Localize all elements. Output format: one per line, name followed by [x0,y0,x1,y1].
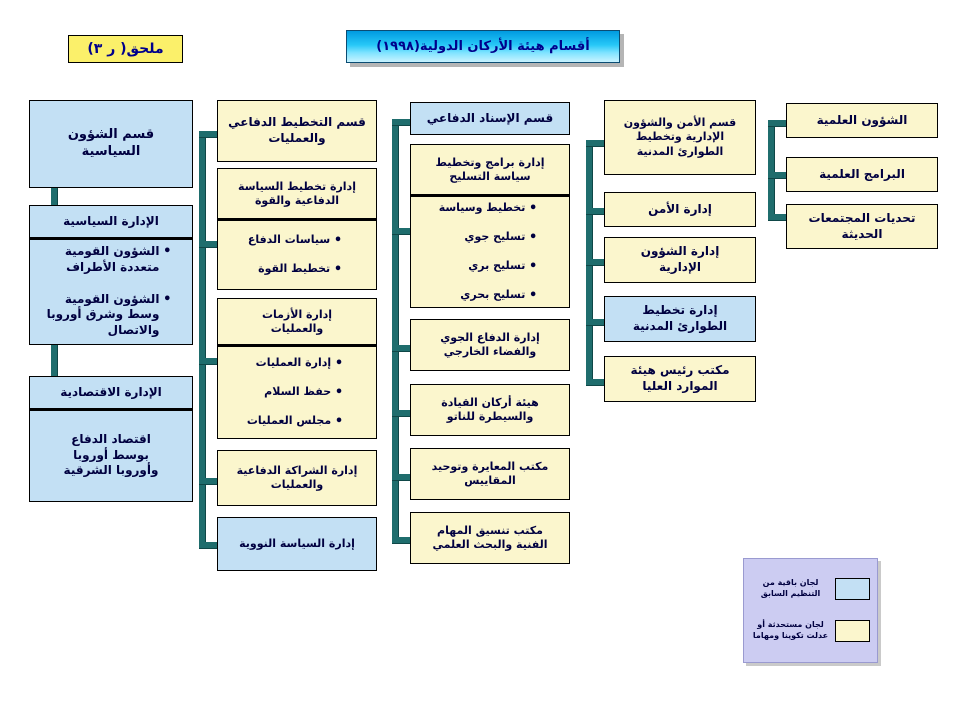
node-header: الإدارة الاقتصادية [30,377,192,411]
legend-label-new: لجان مستحدثة أو عدلت تكوينا ومهاما [752,620,829,642]
node-title: الشؤون العلمية [787,104,937,137]
node-administration-directorate[interactable]: إدارة الشؤون الإدارية [604,237,756,283]
list-item: حفظ السلام [247,385,331,400]
node-modern-society-challenges[interactable]: تحديات المجتمعات الحديثة [786,204,938,249]
node-title: مكتب رئيس هيئة الموارد العليا [605,357,755,401]
list-item: تسليح بري [439,259,526,274]
list-item: سياسات الدفاع [248,233,330,248]
node-title: مكتب تنسيق المهام الفنية والبحث العلمي [411,513,569,563]
node-nuclear-policy[interactable]: إدارة السياسة النووية [217,517,377,571]
connector-vertical-col2 [199,131,205,548]
legend-item-existing: لجان باقية من التنظيم السابق [752,575,870,603]
node-armaments-programmes-planning[interactable]: إدارة برامج وتخطيط سياسة التسليح تخطيط و… [410,144,570,308]
node-header: إدارة تخطيط السياسة الدفاعية والقوة [218,169,376,221]
connector-vertical-col5 [768,120,774,220]
list-item: مجلس العمليات [247,414,331,429]
legend-swatch-blue [835,578,870,600]
annex-label-text: ملحق( ر ٣) [87,41,163,57]
node-defence-support-head[interactable]: قسم الإسناد الدفاعي [410,102,570,135]
node-body: تخطيط وسياسة تسليح جوي تسليح بري تسليح ب… [411,197,569,306]
org-chart-canvas: ملحق( ر ٣) أقسام هيئة الأركان الدولية(١٩… [0,0,959,719]
list-item: تسليح جوي [439,230,526,245]
node-body: اقتصاد الدفاع بوسط أوروبا وأوروبا الشرقي… [30,411,192,500]
legend-swatch-cream [835,620,870,642]
node-air-defence-outer-space[interactable]: إدارة الدفاع الجوي والفضاء الخارجي [410,319,570,371]
node-title: هيئة أركان القيادة والسيطرة للناتو [411,385,569,435]
node-political-affairs-head[interactable]: قسم الشؤون السياسية [29,100,193,188]
node-civil-emergency-planning[interactable]: إدارة تخطيط الطوارئ المدنية [604,296,756,342]
node-nato-c2-staff[interactable]: هيئة أركان القيادة والسيطرة للناتو [410,384,570,436]
chart-title-banner: أقسام هيئة الأركان الدولية(١٩٩٨) [346,30,620,63]
node-bullet-list: إدارة العمليات حفظ السلام مجلس العمليات [247,341,347,443]
node-title: تحديات المجتمعات الحديثة [787,205,937,248]
node-defence-planning-head[interactable]: قسم التخطيط الدفاعي والعمليات [217,100,377,162]
annex-label-box: ملحق( ر ٣) [68,35,183,63]
node-title: قسم الأمن والشؤون الإدارية وتخطيط الطوار… [605,101,755,174]
node-title: مكتب المعايرة وتوحيد المقاييس [411,449,569,499]
node-title: إدارة تخطيط الطوارئ المدنية [605,297,755,341]
node-title: إدارة الأمن [605,193,755,226]
node-technical-research-coordination-office[interactable]: مكتب تنسيق المهام الفنية والبحث العلمي [410,512,570,564]
node-title: البرامج العلمية [787,158,937,191]
node-bullet-list: الشؤون القومية متعددة الأطراف الشؤون الق… [47,228,176,355]
node-title: إدارة السياسة النووية [218,518,376,570]
list-item: الشؤون القومية متعددة الأطراف [47,244,160,276]
node-title: إدارة الدفاع الجوي والفضاء الخارجي [411,320,569,370]
node-title: قسم الشؤون السياسية [30,101,192,187]
list-item: إدارة العمليات [247,356,331,371]
node-header: إدارة الأزمات والعمليات [218,299,376,347]
node-crisis-management-operations[interactable]: إدارة الأزمات والعمليات إدارة العمليات ح… [217,298,377,439]
node-body: سياسات الدفاع تخطيط القوة [218,221,376,288]
legend-panel: لجان باقية من التنظيم السابق لجان مستحدث… [743,558,878,663]
node-scientific-programmes[interactable]: البرامج العلمية [786,157,938,192]
node-title: قسم التخطيط الدفاعي والعمليات [218,101,376,161]
list-item: تخطيط القوة [248,262,330,277]
node-bullet-list: تخطيط وسياسة تسليح جوي تسليح بري تسليح ب… [439,186,542,317]
legend-label-existing: لجان باقية من التنظيم السابق [752,578,829,600]
node-defence-policy-force-planning[interactable]: إدارة تخطيط السياسة الدفاعية والقوة سياس… [217,168,377,290]
node-title: إدارة الشراكة الدفاعية والعمليات [218,451,376,505]
node-body: إدارة العمليات حفظ السلام مجلس العمليات [218,347,376,437]
legend-item-new: لجان مستحدثة أو عدلت تكوينا ومهاما [752,617,870,645]
list-item: الشؤون القومية وسط وشرق أوروبا والاتصال [47,292,160,339]
node-political-directorate[interactable]: الإدارة السياسية الشؤون القومية متعددة ا… [29,205,193,345]
node-security-directorate[interactable]: إدارة الأمن [604,192,756,227]
node-standardisation-office[interactable]: مكتب المعايرة وتوحيد المقاييس [410,448,570,500]
node-bullet-list: سياسات الدفاع تخطيط القوة [248,218,346,291]
node-economics-directorate[interactable]: الإدارة الاقتصادية اقتصاد الدفاع بوسط أو… [29,376,193,502]
node-scientific-affairs-head[interactable]: الشؤون العلمية [786,103,938,138]
node-security-admin-head[interactable]: قسم الأمن والشؤون الإدارية وتخطيط الطوار… [604,100,756,175]
node-title: إدارة الشؤون الإدارية [605,238,755,282]
node-defence-partnership-operations[interactable]: إدارة الشراكة الدفاعية والعمليات [217,450,377,506]
node-senior-resource-board-office[interactable]: مكتب رئيس هيئة الموارد العليا [604,356,756,402]
list-item: تخطيط وسياسة [439,201,526,216]
page-title: أقسام هيئة الأركان الدولية(١٩٩٨) [376,39,590,54]
list-item: تسليح بحري [439,288,526,303]
node-title: قسم الإسناد الدفاعي [411,103,569,134]
node-body: الشؤون القومية متعددة الأطراف الشؤون الق… [30,240,192,343]
